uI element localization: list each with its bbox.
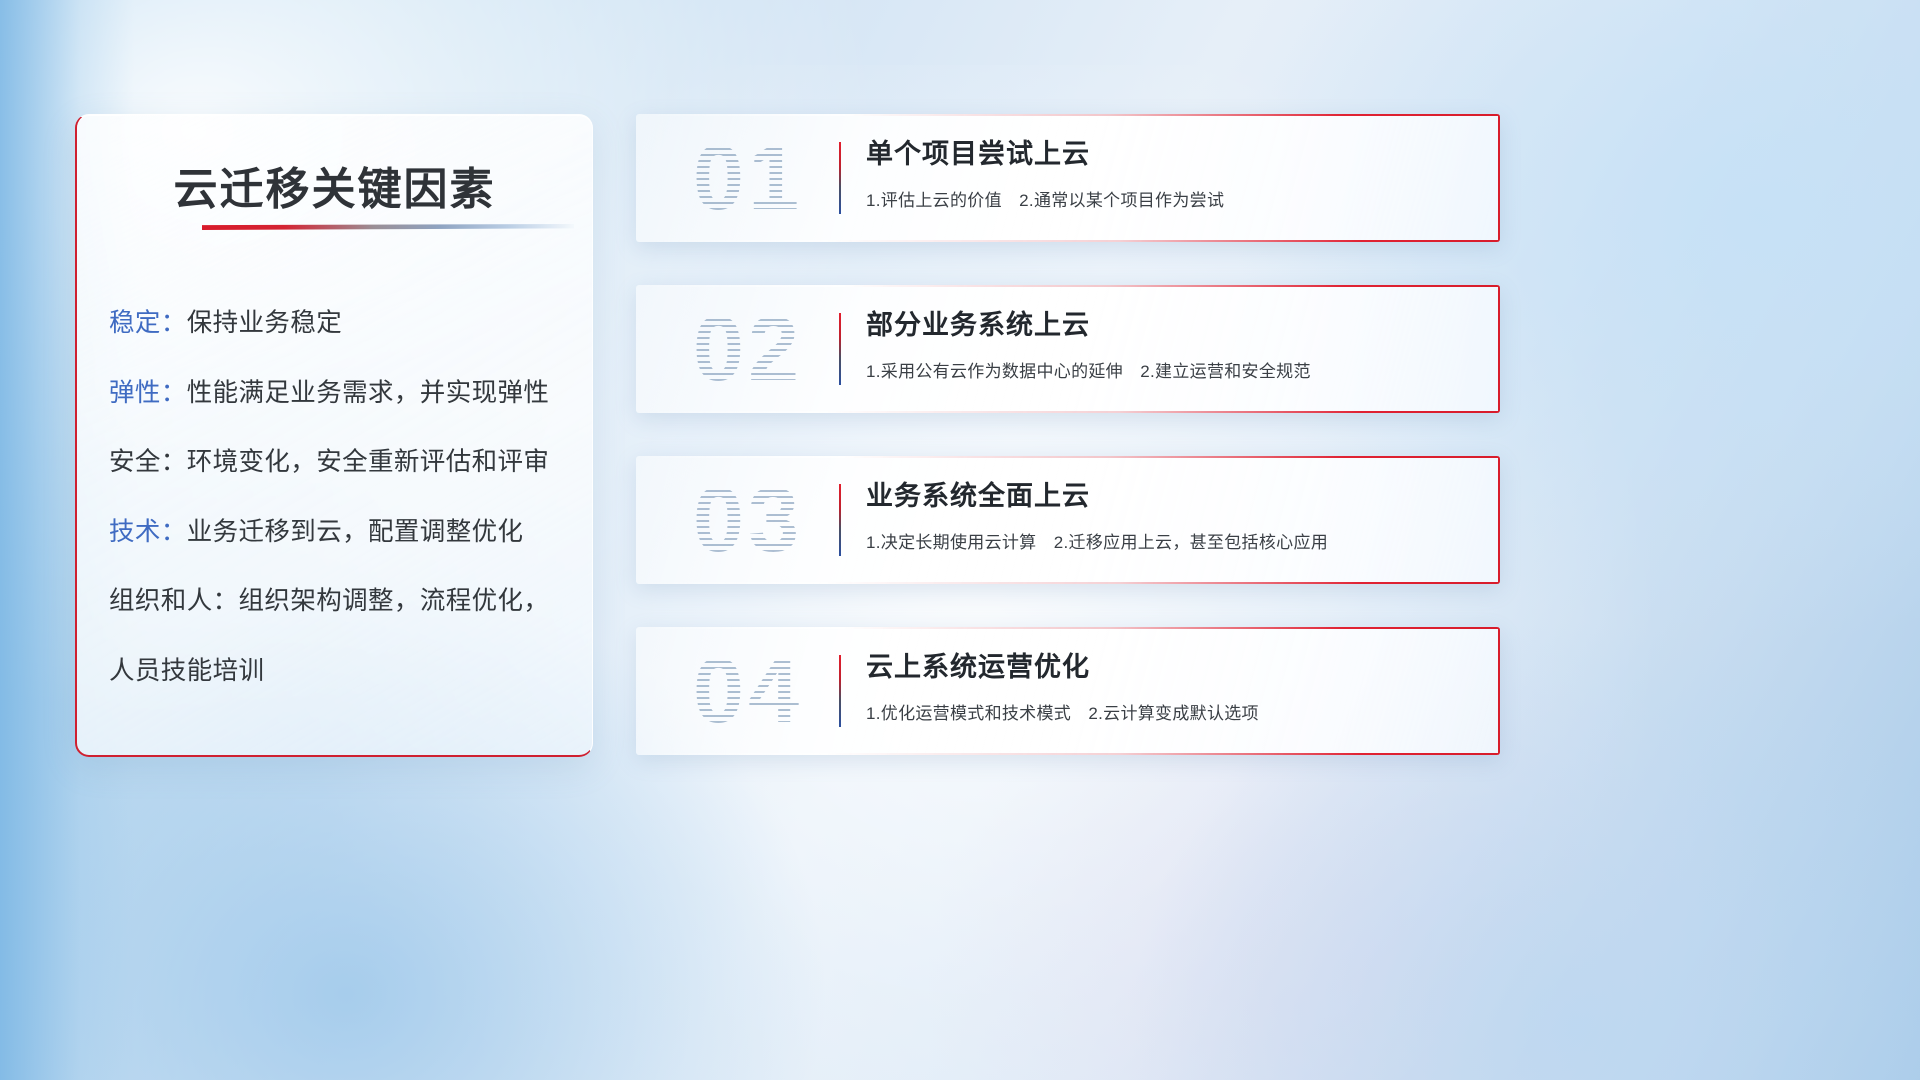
factor-text-1: 保持业务稳定: [187, 309, 342, 337]
factor-list: 稳定：保持业务稳定 弹性：性能满足业务需求，并实现弹性 安全：环境变化，安全重新…: [109, 311, 568, 684]
card-body: 部分业务系统上云 1.采用公有云作为数据中心的延伸 2.建立运营和安全规范: [866, 309, 1460, 382]
factor-text-3: 环境变化，安全重新评估和评审: [187, 448, 550, 476]
card-right-accent-line: [1498, 285, 1500, 413]
card-title-01: 单个项目尝试上云: [866, 138, 1460, 172]
factor-label-1: 稳定：: [109, 309, 187, 337]
card-divider-line: [839, 484, 841, 556]
card-right-accent-line: [1498, 114, 1500, 242]
factor-text-6: 人员技能培训: [109, 657, 264, 685]
card-right-accent-line: [1498, 627, 1500, 755]
card-bottom-accent-line: [636, 582, 1500, 584]
factor-label-5: 组织和人：: [109, 587, 239, 615]
card-description-01: 1.评估上云的价值 2.通常以某个项目作为尝试: [866, 186, 1460, 211]
card-body: 业务系统全面上云 1.决定长期使用云计算 2.迁移应用上云，甚至包括核心应用: [866, 480, 1460, 553]
migration-stage-card-list: 01 单个项目尝试上云 1.评估上云的价值 2.通常以某个项目作为尝试 02 部…: [636, 114, 1500, 755]
factor-text-4: 业务迁移到云，配置调整优化: [187, 518, 524, 546]
factor-row-3: 安全：环境变化，安全重新评估和评审: [109, 450, 568, 476]
factor-row-6: 人员技能培训: [109, 659, 568, 685]
factor-text-5: 组织架构调整，流程优化，: [239, 587, 550, 615]
factor-text-2: 性能满足业务需求，并实现弹性: [187, 379, 550, 407]
key-factors-panel: 云迁移关键因素 稳定：保持业务稳定 弹性：性能满足业务需求，并实现弹性 安全：环…: [75, 114, 593, 757]
factor-row-1: 稳定：保持业务稳定: [109, 311, 568, 337]
card-description-03: 1.决定长期使用云计算 2.迁移应用上云，甚至包括核心应用: [866, 528, 1460, 553]
stage-card-02[interactable]: 02 部分业务系统上云 1.采用公有云作为数据中心的延伸 2.建立运营和安全规范: [636, 285, 1500, 413]
card-description-04: 1.优化运营模式和技术模式 2.云计算变成默认选项: [866, 699, 1460, 724]
card-top-accent-line: [636, 114, 1500, 116]
card-bottom-accent-line: [636, 753, 1500, 755]
card-title-02: 部分业务系统上云: [866, 309, 1460, 343]
factor-row-4: 技术：业务迁移到云，配置调整优化: [109, 520, 568, 546]
card-number-02: 02: [658, 289, 838, 409]
factor-row-5: 组织和人：组织架构调整，流程优化，: [109, 589, 568, 615]
stage-card-03[interactable]: 03 业务系统全面上云 1.决定长期使用云计算 2.迁移应用上云，甚至包括核心应…: [636, 456, 1500, 584]
card-number-01: 01: [658, 118, 838, 238]
card-description-02: 1.采用公有云作为数据中心的延伸 2.建立运营和安全规范: [866, 357, 1460, 382]
title-underline-bar: [202, 224, 574, 230]
card-title-04: 云上系统运营优化: [866, 651, 1460, 685]
stage-card-04[interactable]: 04 云上系统运营优化 1.优化运营模式和技术模式 2.云计算变成默认选项: [636, 627, 1500, 755]
stage-card-01[interactable]: 01 单个项目尝试上云 1.评估上云的价值 2.通常以某个项目作为尝试: [636, 114, 1500, 242]
card-bottom-accent-line: [636, 411, 1500, 413]
factor-label-2: 弹性：: [109, 379, 187, 407]
card-divider-line: [839, 313, 841, 385]
card-top-accent-line: [636, 627, 1500, 629]
card-number-03: 03: [658, 460, 838, 580]
page-title: 云迁移关键因素: [77, 153, 592, 217]
card-body: 云上系统运营优化 1.优化运营模式和技术模式 2.云计算变成默认选项: [866, 651, 1460, 724]
factor-row-2: 弹性：性能满足业务需求，并实现弹性: [109, 381, 568, 407]
card-body: 单个项目尝试上云 1.评估上云的价值 2.通常以某个项目作为尝试: [866, 138, 1460, 211]
card-right-accent-line: [1498, 456, 1500, 584]
card-divider-line: [839, 142, 841, 214]
factor-label-4: 技术：: [109, 518, 187, 546]
card-divider-line: [839, 655, 841, 727]
card-top-accent-line: [636, 456, 1500, 458]
card-title-03: 业务系统全面上云: [866, 480, 1460, 514]
card-number-04: 04: [658, 631, 838, 751]
card-bottom-accent-line: [636, 240, 1500, 242]
factor-label-3: 安全：: [109, 448, 187, 476]
card-top-accent-line: [636, 285, 1500, 287]
